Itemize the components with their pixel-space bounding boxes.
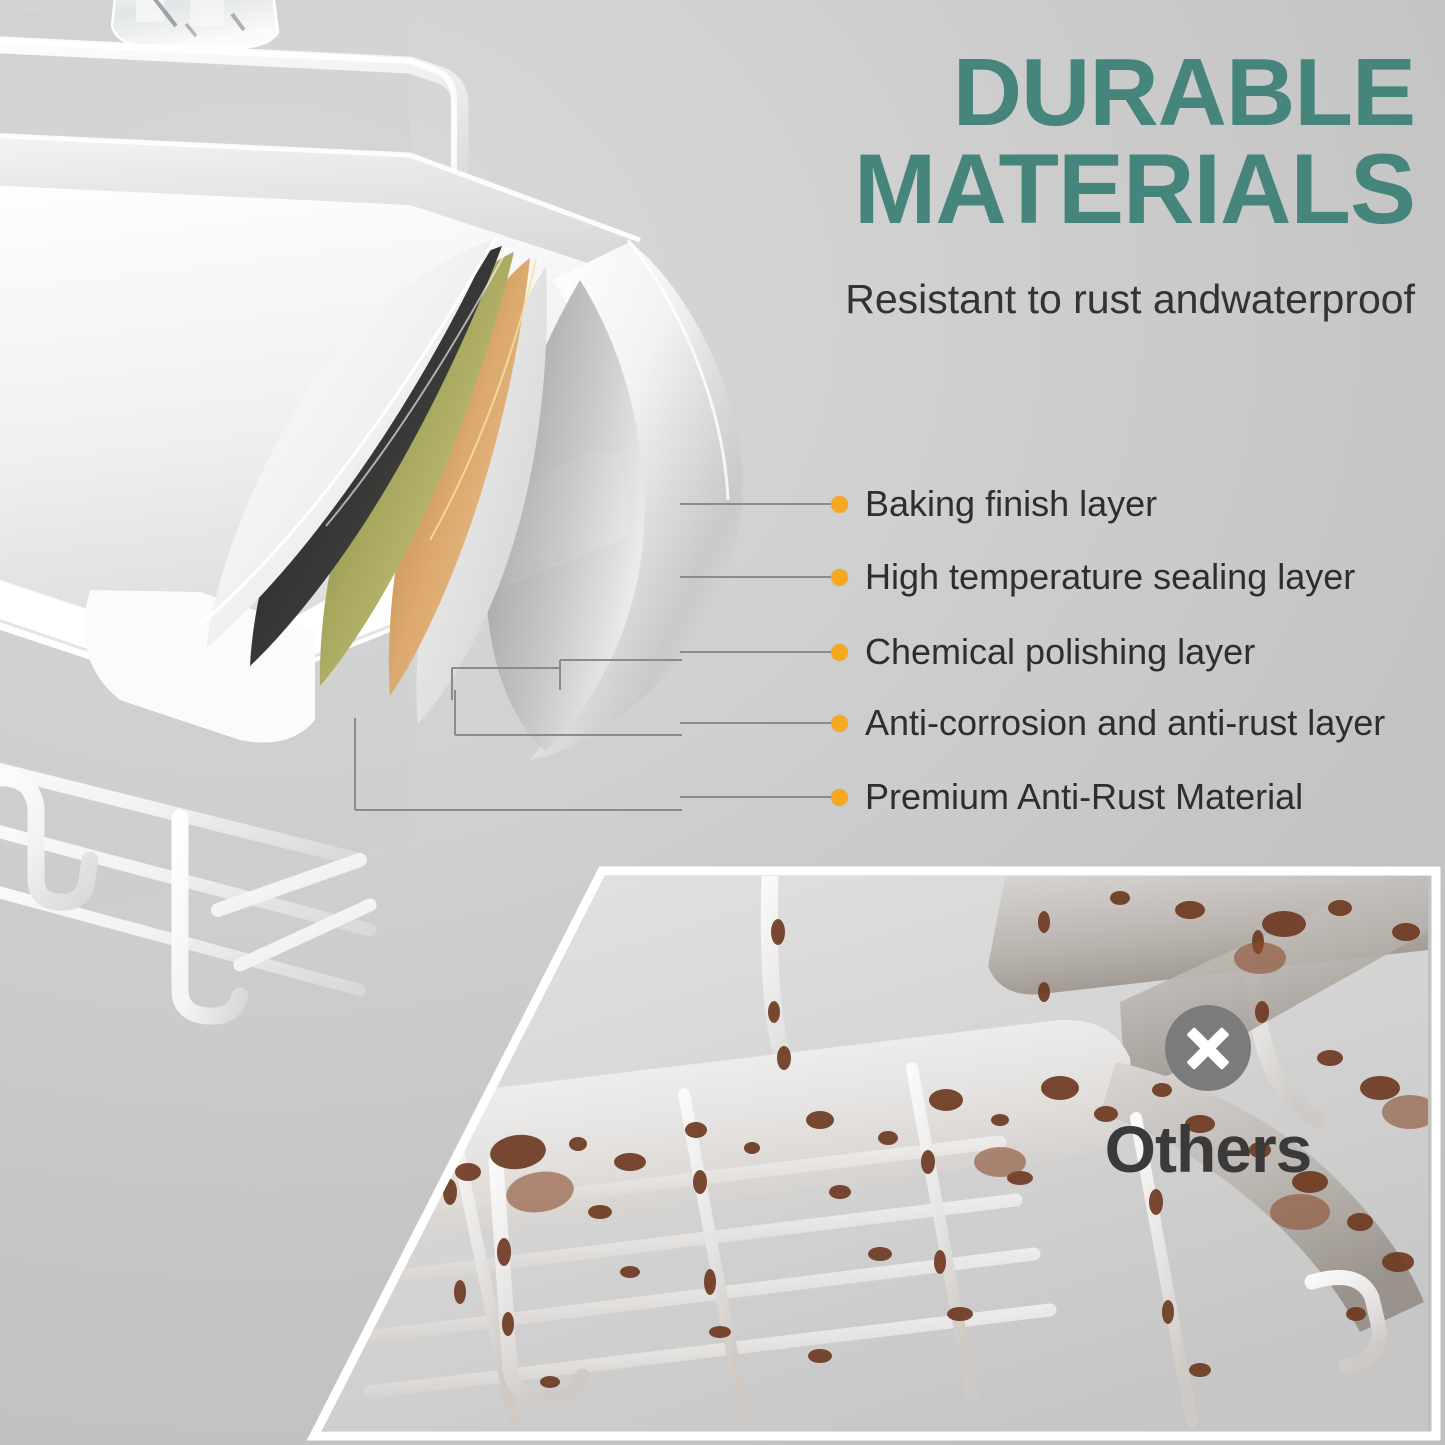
others-label: Others	[1078, 1111, 1338, 1187]
bullet-dot-icon	[831, 644, 848, 661]
headline-subtitle: Resistant to rust andwaterproof	[655, 277, 1415, 322]
callout-label: Anti-corrosion and anti-rust layer	[865, 702, 1385, 744]
headline-block: DURABLE MATERIALS	[655, 46, 1415, 237]
headline-line-1: DURABLE	[655, 46, 1415, 140]
callout-row: High temperature sealing layer	[680, 557, 1355, 597]
x-mark-icon	[1165, 1005, 1251, 1091]
bullet-dot-icon	[831, 496, 848, 513]
callout-label: High temperature sealing layer	[865, 556, 1355, 598]
bullet-dot-icon	[831, 715, 848, 732]
leader-line	[680, 651, 832, 653]
callout-label: Baking finish layer	[865, 483, 1157, 525]
callout-row: Baking finish layer	[680, 484, 1157, 524]
headline-line-2: MATERIALS	[655, 140, 1415, 237]
callout-label: Premium Anti-Rust Material	[865, 776, 1303, 818]
bullet-dot-icon	[831, 789, 848, 806]
others-badge: Others	[1078, 1005, 1338, 1187]
bullet-dot-icon	[831, 569, 848, 586]
adhesive-mount-clip	[112, 0, 278, 48]
leader-line	[680, 503, 832, 505]
callout-label: Chemical polishing layer	[865, 631, 1255, 673]
leader-line	[680, 796, 832, 798]
callout-row: Chemical polishing layer	[680, 632, 1255, 672]
leader-line	[680, 722, 832, 724]
callout-row: Premium Anti-Rust Material	[680, 777, 1303, 817]
infographic-canvas: DURABLE MATERIALS Resistant to rust andw…	[0, 0, 1445, 1445]
leader-line	[680, 576, 832, 578]
coating-callout-list: Baking finish layer High temperature sea…	[680, 472, 1440, 832]
callout-row: Anti-corrosion and anti-rust layer	[680, 703, 1385, 743]
